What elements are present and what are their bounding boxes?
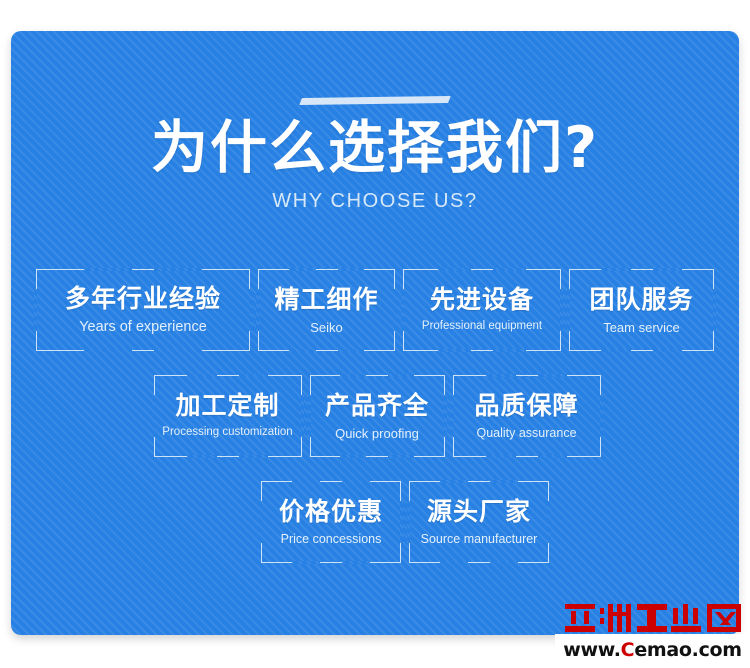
feature-label-en: Price concessions bbox=[281, 533, 382, 546]
feature-label-en: Quick proofing bbox=[335, 427, 419, 440]
frame-tick-top bbox=[631, 269, 653, 270]
feature-label-cn: 多年行业经验 bbox=[65, 286, 221, 311]
page-subtitle: WHY CHOOSE US? bbox=[11, 190, 739, 213]
frame-tick-top bbox=[132, 269, 154, 270]
watermark-url-strip: www.Cemao.com bbox=[555, 634, 750, 666]
frame-tick-top bbox=[516, 375, 538, 376]
feature-label-cn: 价格优惠 bbox=[279, 499, 383, 524]
feature-card: 精工细作 Seiko bbox=[258, 269, 395, 351]
feature-label-cn: 源头厂家 bbox=[427, 499, 531, 524]
frame-tick-top bbox=[320, 481, 342, 482]
feature-row-3: 价格优惠 Price concessions 源头厂家 Source manuf… bbox=[11, 481, 739, 563]
frame-tick-bottom bbox=[631, 350, 653, 351]
frame-tick-bottom bbox=[132, 350, 154, 351]
frame-tick-bottom bbox=[468, 562, 490, 563]
frame-tick-top bbox=[468, 481, 490, 482]
header-block: 为什么选择我们? WHY CHOOSE US? bbox=[11, 31, 739, 213]
blue-promo-panel: 为什么选择我们? WHY CHOOSE US? 多年行业经验 Years of … bbox=[11, 31, 739, 635]
watermark-logo-icon bbox=[563, 600, 743, 636]
title-divider bbox=[299, 96, 451, 105]
frame-tick-bottom bbox=[471, 350, 493, 351]
frame-tick-top bbox=[471, 269, 493, 270]
feature-card: 源头厂家 Source manufacturer bbox=[409, 481, 549, 563]
site-watermark: www.Cemao.com bbox=[555, 598, 750, 668]
page-title: 为什么选择我们? bbox=[11, 118, 739, 178]
page-canvas: 为什么选择我们? WHY CHOOSE US? 多年行业经验 Years of … bbox=[0, 0, 750, 668]
watermark-url-accent: C bbox=[621, 639, 635, 661]
feature-label-cn: 精工细作 bbox=[274, 287, 378, 312]
feature-label-en: Years of experience bbox=[79, 320, 207, 335]
watermark-url-suffix: emao.com bbox=[634, 639, 742, 661]
feature-card: 价格优惠 Price concessions bbox=[261, 481, 401, 563]
feature-card: 先进设备 Professional equipment bbox=[403, 269, 561, 351]
feature-row-2: 加工定制 Processing customization 产品齐全 Quick… bbox=[11, 375, 739, 457]
frame-tick-bottom bbox=[516, 456, 538, 457]
feature-label-cn: 先进设备 bbox=[430, 287, 534, 312]
feature-card: 产品齐全 Quick proofing bbox=[310, 375, 445, 457]
frame-tick-bottom bbox=[217, 456, 239, 457]
feature-card: 多年行业经验 Years of experience bbox=[36, 269, 250, 351]
feature-label-en: Quality assurance bbox=[476, 427, 576, 440]
watermark-url: www.Cemao.com bbox=[563, 639, 742, 661]
frame-tick-bottom bbox=[320, 562, 342, 563]
feature-label-cn: 品质保障 bbox=[474, 393, 578, 418]
frame-tick-top bbox=[366, 375, 388, 376]
feature-row-1: 多年行业经验 Years of experience 精工细作 Seiko 先进… bbox=[11, 269, 739, 351]
feature-label-cn: 团队服务 bbox=[589, 287, 693, 312]
feature-label-en: Professional equipment bbox=[422, 321, 542, 333]
frame-tick-bottom bbox=[366, 456, 388, 457]
frame-tick-top bbox=[316, 269, 338, 270]
frame-tick-top bbox=[217, 375, 239, 376]
feature-label-en: Seiko bbox=[310, 321, 343, 334]
feature-card: 品质保障 Quality assurance bbox=[453, 375, 601, 457]
feature-label-en: Processing customization bbox=[162, 427, 292, 439]
feature-label-en: Source manufacturer bbox=[421, 533, 538, 546]
feature-label-en: Team service bbox=[603, 321, 680, 334]
feature-label-cn: 加工定制 bbox=[175, 393, 279, 418]
watermark-url-prefix: www. bbox=[563, 639, 620, 661]
frame-tick-bottom bbox=[316, 350, 338, 351]
feature-card: 团队服务 Team service bbox=[569, 269, 714, 351]
feature-card: 加工定制 Processing customization bbox=[154, 375, 302, 457]
feature-label-cn: 产品齐全 bbox=[325, 393, 429, 418]
